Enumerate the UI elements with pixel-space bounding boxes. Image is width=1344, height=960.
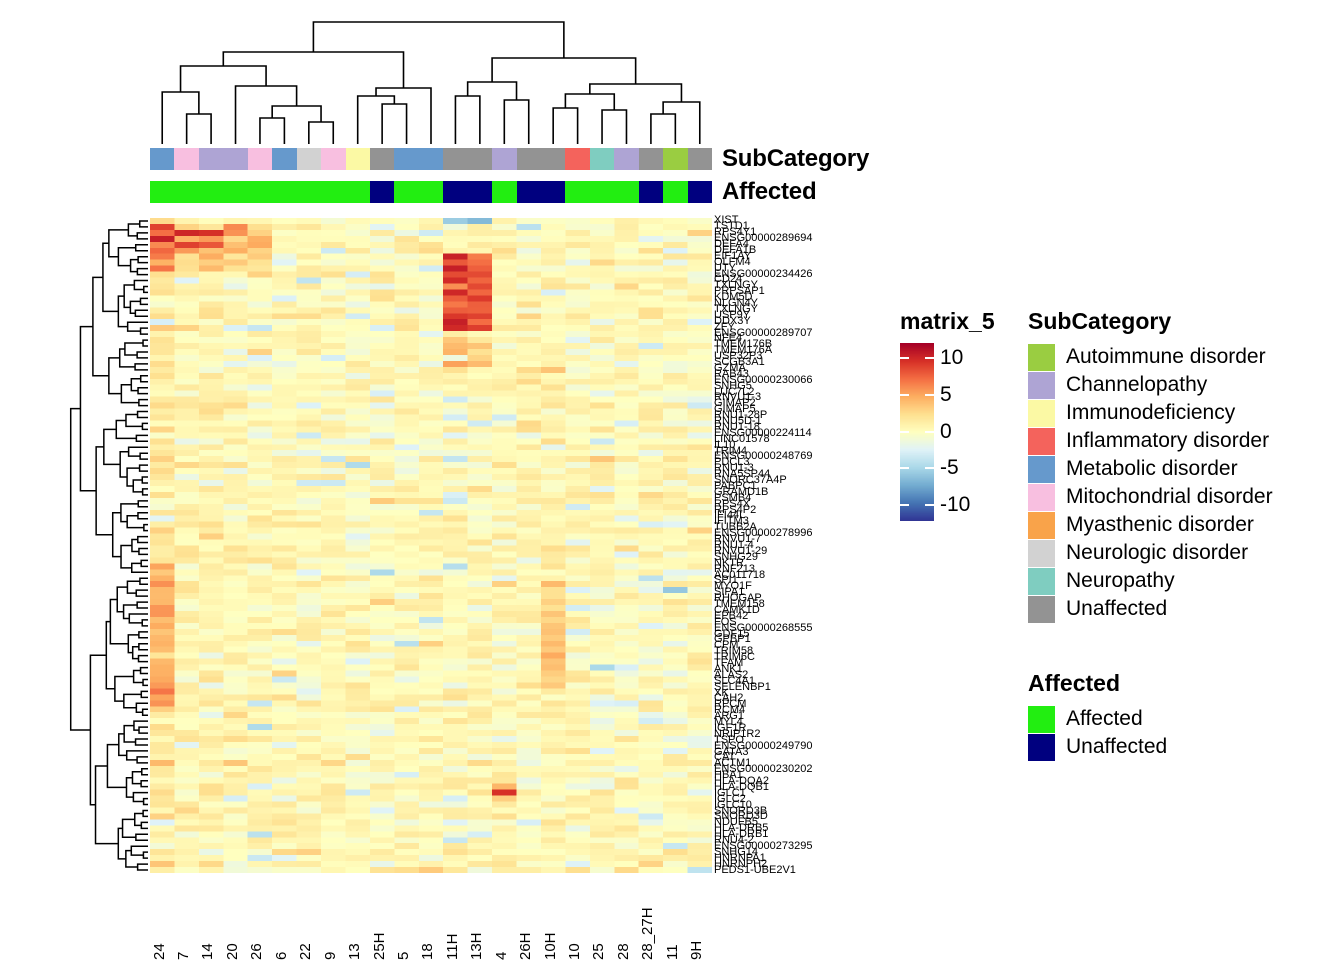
column-label: 25H — [371, 932, 388, 960]
affected-annotation-cell — [419, 181, 443, 203]
subcategory-legend-label: Neurologic disorder — [1066, 541, 1248, 565]
affected-annotation-cell — [346, 181, 370, 203]
column-label: 22 — [297, 943, 314, 960]
subcategory-annotation-label: SubCategory — [722, 148, 869, 170]
subcategory-legend-label: Inflammatory disorder — [1066, 429, 1269, 453]
subcategory-annotation-cell — [174, 148, 198, 170]
colorbar-tick-labels: 1050-5-10 — [940, 343, 1008, 521]
subcategory-legend-swatch — [1028, 400, 1055, 427]
affected-legend-swatch — [1028, 734, 1055, 761]
affected-annotation-cell — [614, 181, 638, 203]
affected-legend-title: Affected — [1028, 670, 1340, 697]
column-label: 26 — [248, 943, 265, 960]
colorbar-tick — [900, 357, 909, 359]
colorbar-tick-label: 10 — [940, 347, 963, 368]
colorbar-tick — [925, 357, 934, 359]
subcategory-annotation-cell — [517, 148, 541, 170]
subcategory-legend-label: Immunodeficiency — [1066, 401, 1235, 425]
subcategory-legend-item: Channelopathy — [1028, 371, 1340, 399]
colorbar-tick — [925, 431, 934, 433]
affected-annotation-label: Affected — [722, 181, 816, 203]
column-label: 9 — [322, 952, 339, 960]
affected-annotation-bar — [150, 181, 712, 203]
column-label: 26H — [517, 932, 534, 960]
heatmap-canvas — [150, 218, 712, 873]
subcategory-annotation-cell — [541, 148, 565, 170]
colorbar-tick — [925, 504, 934, 506]
subcategory-legend-item: Myasthenic disorder — [1028, 511, 1340, 539]
subcategory-legend-swatch — [1028, 540, 1055, 567]
column-label: 25 — [590, 943, 607, 960]
subcategory-annotation-cell — [492, 148, 516, 170]
affected-annotation-cell — [248, 181, 272, 203]
subcategory-legend-label: Unaffected — [1066, 597, 1167, 621]
column-label: 5 — [395, 952, 412, 960]
affected-annotation-cell — [272, 181, 296, 203]
subcategory-legend: SubCategory Autoimmune disorderChannelop… — [1028, 308, 1340, 623]
column-label: 11 — [664, 944, 681, 960]
subcategory-annotation-cell — [346, 148, 370, 170]
subcategory-annotation-cell — [590, 148, 614, 170]
subcategory-legend-label: Myasthenic disorder — [1066, 513, 1254, 537]
subcategory-annotation-bar — [150, 148, 712, 170]
subcategory-annotation-cell — [663, 148, 687, 170]
column-label: 20 — [224, 943, 241, 960]
column-label: 28 — [615, 943, 632, 960]
colorbar-tick — [900, 504, 909, 506]
subcategory-legend-label: Channelopathy — [1066, 373, 1207, 397]
affected-annotation-cell — [639, 181, 663, 203]
affected-annotation-cell — [150, 181, 174, 203]
subcategory-legend-title: SubCategory — [1028, 308, 1340, 335]
affected-annotation-cell — [468, 181, 492, 203]
column-label: 11H — [444, 934, 461, 960]
column-label: 28_27H — [639, 907, 656, 960]
colorbar-title: matrix_5 — [900, 308, 1020, 335]
affected-annotation-cell — [590, 181, 614, 203]
affected-annotation-cell — [541, 181, 565, 203]
affected-annotation-cell — [199, 181, 223, 203]
affected-annotation-cell — [688, 181, 712, 203]
colorbar-tick — [900, 467, 909, 469]
affected-legend-item: Affected — [1028, 705, 1340, 733]
colorbar-tick — [900, 394, 909, 396]
colorbar-tick-label: -5 — [940, 457, 959, 478]
heatmap-figure: SubCategory Affected XISTTSTD1RPS4Y1ENSG… — [0, 0, 1344, 960]
column-label: 9H — [688, 941, 705, 960]
affected-annotation-cell — [517, 181, 541, 203]
affected-annotation-cell — [297, 181, 321, 203]
subcategory-legend-item: Neurologic disorder — [1028, 539, 1340, 567]
subcategory-legend-item: Unaffected — [1028, 595, 1340, 623]
colorbar-tick-label: -10 — [940, 494, 970, 515]
subcategory-legend-swatch — [1028, 512, 1055, 539]
colorbar-block: matrix_5 1050-5-10 — [900, 308, 1020, 521]
subcategory-annotation-cell — [688, 148, 712, 170]
column-label: 18 — [419, 943, 436, 960]
subcategory-annotation-cell — [150, 148, 174, 170]
affected-legend: Affected AffectedUnaffected — [1028, 670, 1340, 761]
column-label: 13H — [468, 932, 485, 960]
row-label: PEDS1-UBE2V1 — [714, 865, 796, 876]
column-label: 4 — [493, 952, 510, 960]
subcategory-annotation-cell — [394, 148, 418, 170]
subcategory-legend-swatch — [1028, 344, 1055, 371]
subcategory-annotation-cell — [272, 148, 296, 170]
subcategory-legend-item: Immunodeficiency — [1028, 399, 1340, 427]
subcategory-legend-item: Mitochondrial disorder — [1028, 483, 1340, 511]
heatmap-matrix — [150, 218, 712, 873]
affected-legend-swatch — [1028, 706, 1055, 733]
subcategory-legend-label: Neuropathy — [1066, 569, 1175, 593]
colorbar-tick — [925, 394, 934, 396]
colorbar-tick — [925, 467, 934, 469]
column-label: 6 — [273, 952, 290, 960]
subcategory-annotation-cell — [443, 148, 467, 170]
colorbar-tick-label: 0 — [940, 421, 952, 442]
subcategory-annotation-cell — [248, 148, 272, 170]
affected-legend-item: Unaffected — [1028, 733, 1340, 761]
subcategory-legend-label: Mitochondrial disorder — [1066, 485, 1273, 509]
subcategory-legend-item: Neuropathy — [1028, 567, 1340, 595]
affected-annotation-cell — [174, 181, 198, 203]
subcategory-legend-swatch — [1028, 428, 1055, 455]
column-label: 10H — [542, 932, 559, 960]
affected-legend-label: Affected — [1066, 707, 1143, 731]
column-dendrogram — [150, 8, 712, 144]
subcategory-annotation-cell — [370, 148, 394, 170]
subcategory-annotation-cell — [223, 148, 247, 170]
subcategory-annotation-cell — [297, 148, 321, 170]
affected-annotation-cell — [321, 181, 345, 203]
affected-annotation-cell — [394, 181, 418, 203]
subcategory-legend-swatch — [1028, 456, 1055, 483]
row-dendrogram — [8, 218, 148, 873]
subcategory-legend-item: Autoimmune disorder — [1028, 343, 1340, 371]
column-label: 13 — [346, 943, 363, 960]
column-label: 10 — [566, 943, 583, 960]
column-label: 14 — [199, 943, 216, 960]
subcategory-annotation-cell — [614, 148, 638, 170]
affected-annotation-cell — [565, 181, 589, 203]
subcategory-annotation-cell — [468, 148, 492, 170]
subcategory-annotation-cell — [639, 148, 663, 170]
subcategory-legend-label: Metabolic disorder — [1066, 457, 1238, 481]
subcategory-annotation-cell — [321, 148, 345, 170]
colorbar-tick-label: 5 — [940, 384, 952, 405]
subcategory-annotation-cell — [199, 148, 223, 170]
affected-annotation-cell — [443, 181, 467, 203]
subcategory-legend-swatch — [1028, 372, 1055, 399]
column-label: 24 — [151, 943, 168, 960]
affected-legend-label: Unaffected — [1066, 735, 1167, 759]
affected-annotation-cell — [663, 181, 687, 203]
subcategory-legend-swatch — [1028, 596, 1055, 623]
subcategory-legend-label: Autoimmune disorder — [1066, 345, 1266, 369]
column-labels: 24714202662291325H51811H13H426H10H102528… — [150, 876, 712, 960]
affected-annotation-cell — [492, 181, 516, 203]
subcategory-annotation-cell — [565, 148, 589, 170]
subcategory-legend-item: Metabolic disorder — [1028, 455, 1340, 483]
colorbar-tick — [900, 431, 909, 433]
subcategory-legend-item: Inflammatory disorder — [1028, 427, 1340, 455]
subcategory-annotation-cell — [419, 148, 443, 170]
subcategory-legend-swatch — [1028, 484, 1055, 511]
colorbar-ticks — [900, 343, 934, 521]
affected-annotation-cell — [370, 181, 394, 203]
subcategory-legend-swatch — [1028, 568, 1055, 595]
column-label: 7 — [175, 952, 192, 960]
affected-annotation-cell — [223, 181, 247, 203]
